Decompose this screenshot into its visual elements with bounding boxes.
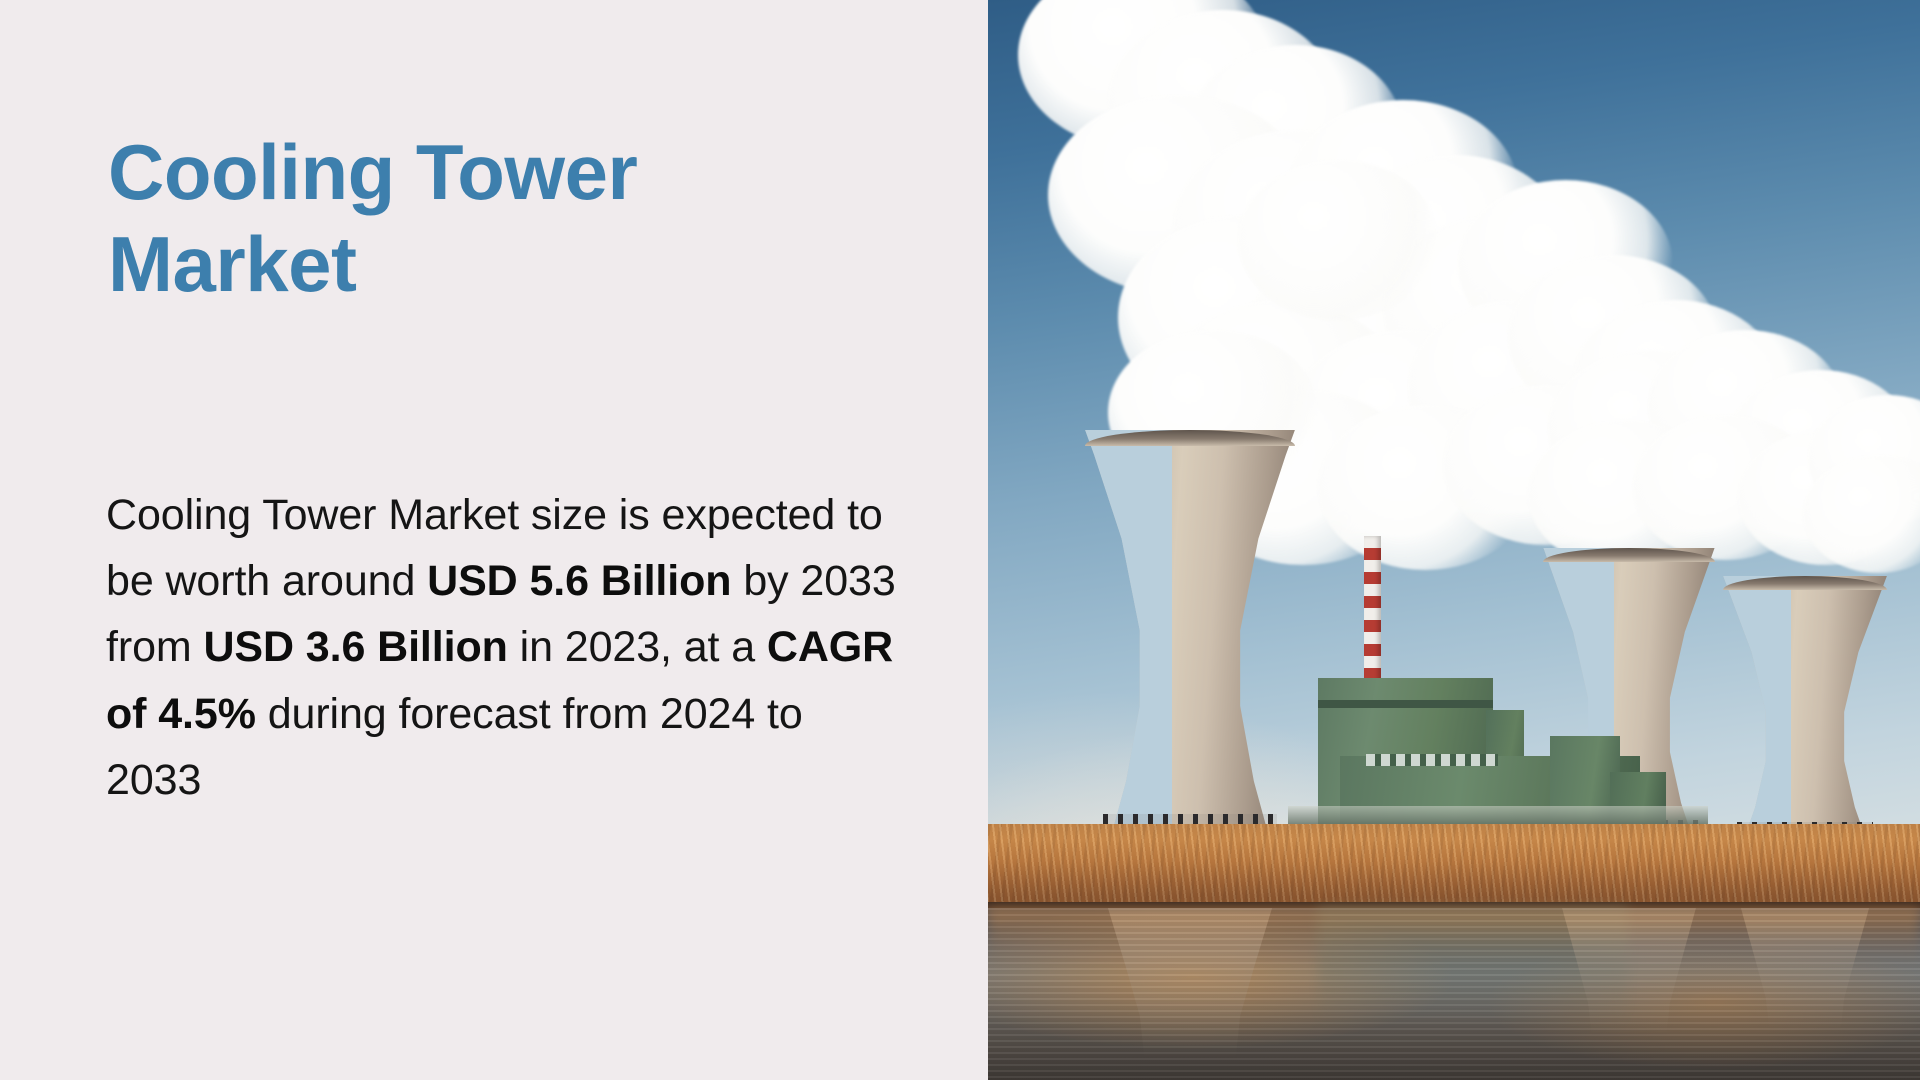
striped-chimney xyxy=(1364,536,1381,694)
summary-segment-3: in 2023, at a xyxy=(508,623,767,671)
cooling-tower-left-shell xyxy=(1076,430,1304,848)
orange-embankment xyxy=(988,824,1920,908)
embankment-texture xyxy=(988,824,1920,908)
cooling-tower-right-body xyxy=(1716,576,1894,848)
market-size-2023-value: USD 3.6 Billion xyxy=(203,623,507,671)
cooling-tower-right-shell xyxy=(1716,576,1894,848)
water-surface xyxy=(988,908,1920,1080)
infographic-banner: Cooling Tower Market Cooling Tower Marke… xyxy=(0,0,1920,1080)
market-size-2033-value: USD 5.6 Billion xyxy=(427,557,731,605)
water-ripples xyxy=(988,908,1920,1080)
market-summary-text: Cooling Tower Market size is expected to… xyxy=(106,482,906,813)
page-title: Cooling Tower Market xyxy=(108,126,868,310)
power-plant-photo xyxy=(988,0,1920,1080)
plant-window-strip xyxy=(1366,754,1498,766)
steam-plume-ac xyxy=(1238,160,1438,320)
plant-building-main-roof-detail xyxy=(1318,700,1493,708)
text-panel: Cooling Tower Market Cooling Tower Marke… xyxy=(0,0,988,1080)
cooling-tower-left-body xyxy=(1076,430,1304,848)
cooling-tower-right xyxy=(1716,576,1894,848)
cooling-tower-left xyxy=(1076,430,1304,848)
